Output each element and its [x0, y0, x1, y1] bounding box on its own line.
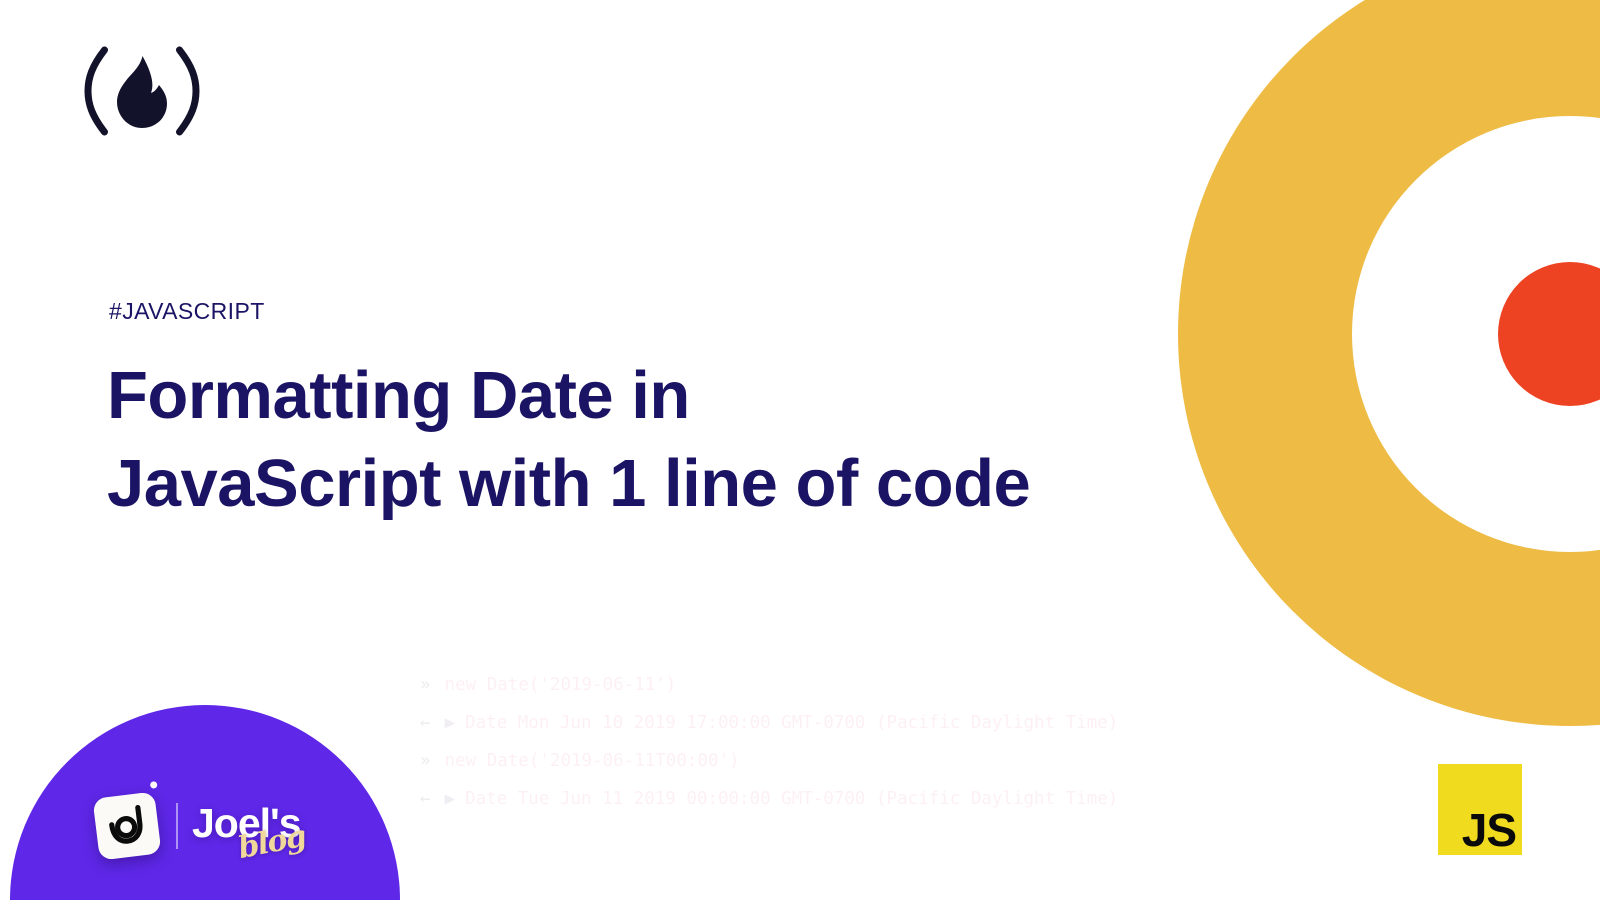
console-output-prompt-icon: ← [420, 789, 431, 809]
joel-j-circle-logo-icon [92, 791, 161, 860]
console-row-input: »new Date('2019-06-11') [420, 666, 1118, 704]
console-expander-icon: ▶ [445, 713, 456, 733]
blog-badge-divider [176, 803, 178, 849]
console-input-text: new Date('2019-06-11') [445, 675, 677, 695]
console-expander-icon: ▶ [445, 789, 456, 809]
console-input-text: new Date('2019-06-11T00:00') [445, 751, 740, 771]
console-input-prompt-icon: » [420, 675, 431, 695]
freecodecamp-flame-logo-icon [84, 44, 200, 138]
blog-wordmark: Joel's blog [192, 795, 322, 857]
page-title-line-2: JavaScript with 1 line of code [107, 440, 1167, 528]
article-tag[interactable]: #JAVASCRIPT [109, 298, 265, 325]
console-output-text: Date Tue Jun 11 2019 00:00:00 GMT-0700 (… [465, 789, 1118, 809]
page-title: Formatting Date in JavaScript with 1 lin… [107, 352, 1167, 528]
console-row-input: »new Date('2019-06-11T00:00') [420, 742, 1118, 780]
console-output-prompt-icon: ← [420, 713, 431, 733]
console-row-output: ←▶Date Mon Jun 10 2019 17:00:00 GMT-0700… [420, 704, 1118, 742]
javascript-badge: JS [1438, 764, 1522, 855]
article-cover-card: #JAVASCRIPT Formatting Date in JavaScrip… [0, 0, 1600, 900]
javascript-badge-label: JS [1462, 807, 1516, 853]
console-transcript: »new Date('2019-06-11') ←▶Date Mon Jun 1… [420, 666, 1118, 818]
joel-logo-dot-icon [150, 781, 158, 789]
console-input-prompt-icon: » [420, 751, 431, 771]
console-output-text: Date Mon Jun 10 2019 17:00:00 GMT-0700 (… [465, 713, 1118, 733]
page-title-line-1: Formatting Date in [107, 352, 1167, 440]
console-row-output: ←▶Date Tue Jun 11 2019 00:00:00 GMT-0700… [420, 780, 1118, 818]
blog-badge[interactable]: Joel's blog [96, 786, 322, 866]
